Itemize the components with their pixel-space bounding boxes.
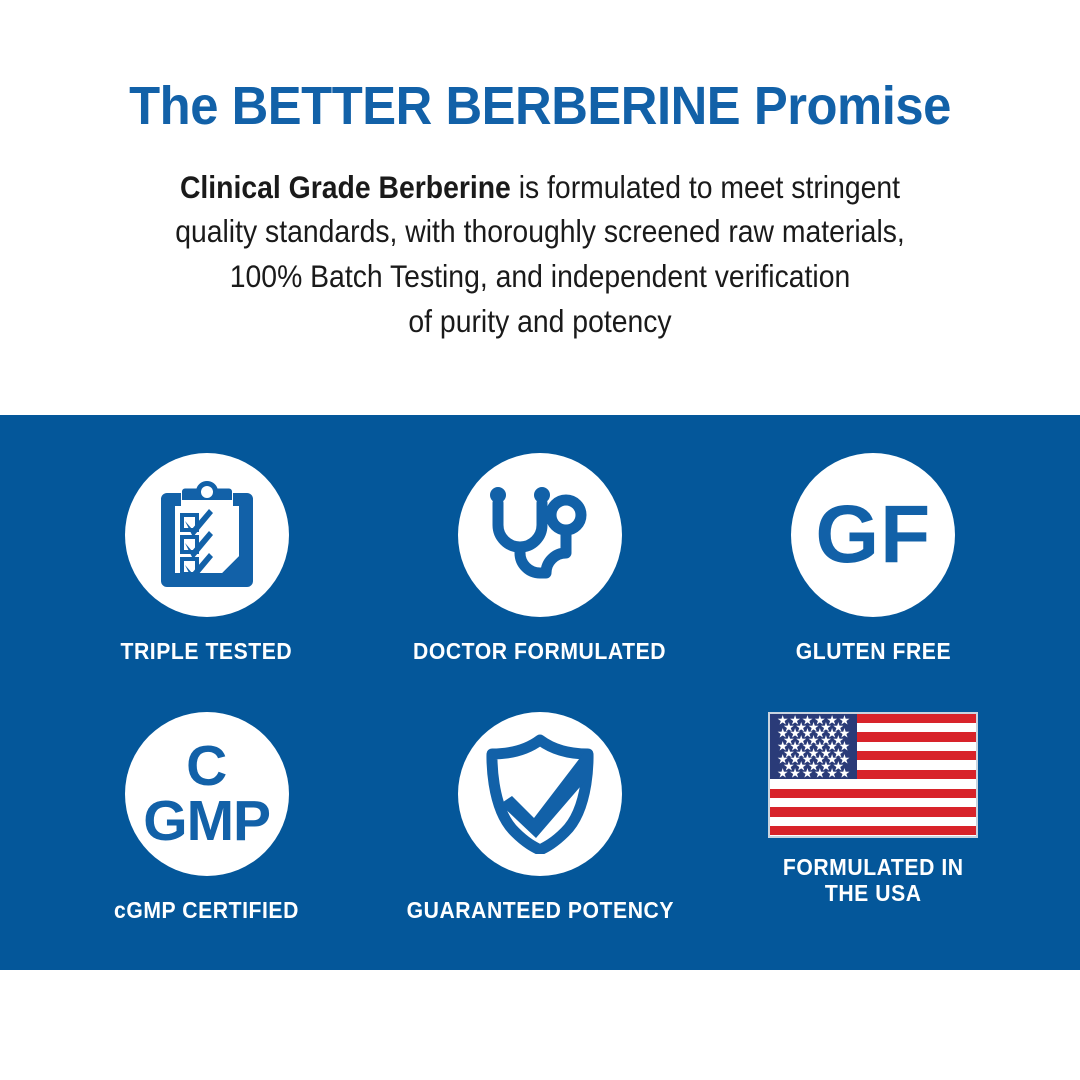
- badge-guaranteed-potency: GUARANTEED POTENCY: [373, 712, 706, 971]
- header-section: The BETTER BERBERINE Promise Clinical Gr…: [0, 0, 1080, 415]
- cgmp-letters-gmp: GMP: [143, 795, 270, 847]
- flag-star: ★: [777, 766, 789, 779]
- trust-badges-panel: TRIPLE TESTED: [0, 415, 1080, 970]
- description-line-4: of purity and potency: [54, 299, 1026, 344]
- badge-formulated-in-usa: ★★★★★★★★★★★★★★★★★★★★★★★★★★★★★★★★★★★★★★★★…: [707, 712, 1040, 971]
- flag-star: ★: [826, 766, 838, 779]
- shield-check-icon: [482, 734, 598, 854]
- description-line-1: Clinical Grade Berberine is formulated t…: [54, 165, 1026, 210]
- description-line-1-rest: is formulated to meet stringent: [511, 169, 900, 205]
- badge-gluten-free: GF GLUTEN FREE: [707, 453, 1040, 712]
- gf-monogram-icon: GF: [815, 494, 931, 576]
- cgmp-letter-c: C: [186, 740, 227, 792]
- cgmp-monogram-icon: C GMP: [143, 740, 270, 847]
- badge-circle: [125, 453, 289, 617]
- stethoscope-icon: [482, 477, 598, 593]
- flag-star: ★: [814, 766, 826, 779]
- badge-label: DOCTOR FORMULATED: [413, 638, 666, 664]
- badge-triple-tested: TRIPLE TESTED: [40, 453, 373, 712]
- flag-star: ★: [802, 766, 814, 779]
- description-bold-lead: Clinical Grade Berberine: [180, 169, 511, 205]
- footer-spacer: [0, 970, 1080, 1080]
- flag-star: ★: [839, 766, 851, 779]
- page-title: The BETTER BERBERINE Promise: [32, 78, 1047, 135]
- promise-infographic: The BETTER BERBERINE Promise Clinical Gr…: [0, 0, 1080, 1080]
- badge-circle: [458, 453, 622, 617]
- badge-circle: C GMP: [125, 712, 289, 876]
- description-line-3: 100% Batch Testing, and independent veri…: [54, 254, 1026, 299]
- usa-flag-icon: ★★★★★★★★★★★★★★★★★★★★★★★★★★★★★★★★★★★★★★★★…: [768, 712, 978, 838]
- flag-stripe: [770, 789, 976, 798]
- flag-star: ★: [789, 766, 801, 779]
- badge-doctor-formulated: DOCTOR FORMULATED: [373, 453, 706, 712]
- clipboard-checklist-icon: [155, 479, 259, 591]
- badge-label: FORMULATED IN THE USA: [783, 854, 964, 907]
- badge-circle: GF: [791, 453, 955, 617]
- trust-badges-grid: TRIPLE TESTED: [40, 453, 1040, 970]
- description-line-2: quality standards, with thoroughly scree…: [54, 209, 1026, 254]
- badge-label: cGMP CERTIFIED: [114, 897, 299, 923]
- flag-stripe: [770, 807, 976, 816]
- badge-cgmp-certified: C GMP cGMP CERTIFIED: [40, 712, 373, 971]
- badge-circle: [458, 712, 622, 876]
- badge-label: GLUTEN FREE: [796, 638, 951, 664]
- badge-label: TRIPLE TESTED: [121, 638, 293, 664]
- promise-description: Clinical Grade Berberine is formulated t…: [54, 165, 1026, 344]
- badge-label: GUARANTEED POTENCY: [406, 897, 673, 923]
- flag-stripe: [770, 826, 976, 835]
